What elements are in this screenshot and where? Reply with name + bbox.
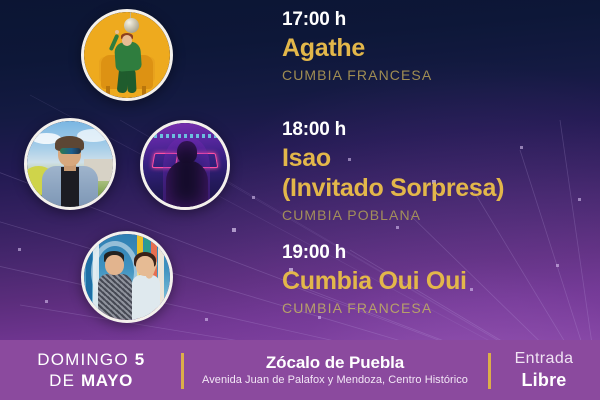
event-poster: 17:00 h Agathe CUMBIA FRANCESA 18:00 h I… bbox=[0, 0, 600, 400]
lineup-artist-1: Agathe bbox=[282, 33, 600, 63]
lineup-artist-name-3: Cumbia Oui Oui bbox=[282, 267, 467, 295]
lineup-item-2: 18:00 h Isao (Invitado Sorpresa) CUMBIA … bbox=[282, 118, 600, 225]
footer-venue-address: Avenida Juan de Palafox y Mendoza, Centr… bbox=[202, 373, 468, 388]
sunglasses-icon bbox=[60, 148, 82, 154]
artist-photo-cumbia-oui-oui bbox=[81, 231, 173, 323]
artist-photo-isao bbox=[24, 118, 116, 210]
lineup-genre-2: CUMBIA POBLANA bbox=[282, 205, 600, 225]
lineup-time-1: 17:00 h bbox=[282, 8, 600, 32]
surprise-guest-photo bbox=[143, 123, 227, 207]
lineup-artist-3: Cumbia Oui Oui bbox=[282, 266, 600, 296]
footer-price-section: Entrada Libre bbox=[488, 340, 600, 400]
agathe-photo bbox=[84, 12, 170, 98]
lineup-artist-note-2: (Invitado Sorpresa) bbox=[282, 173, 600, 203]
footer-date-weekday: DOMINGO bbox=[37, 350, 134, 369]
footer-date-month: MAYO bbox=[81, 371, 133, 390]
footer-bar: DOMINGO 5 DE MAYO Zócalo de Puebla Aveni… bbox=[0, 340, 600, 400]
lineup-list: 17:00 h Agathe CUMBIA FRANCESA 18:00 h I… bbox=[282, 0, 600, 340]
lineup-genre-3: CUMBIA FRANCESA bbox=[282, 298, 600, 318]
lineup-genre-1: CUMBIA FRANCESA bbox=[282, 65, 600, 85]
artist-photo-surprise-guest bbox=[140, 120, 230, 210]
footer-venue-section: Zócalo de Puebla Avenida Juan de Palafox… bbox=[182, 340, 488, 400]
lineup-item-1: 17:00 h Agathe CUMBIA FRANCESA bbox=[282, 8, 600, 85]
disco-ball-icon bbox=[124, 18, 139, 33]
lineup-artist-2: Isao (Invitado Sorpresa) bbox=[282, 143, 600, 203]
footer-date-de: DE bbox=[49, 371, 81, 390]
isao-photo bbox=[27, 121, 113, 207]
footer-date-section: DOMINGO 5 DE MAYO bbox=[0, 340, 182, 400]
artist-photo-agathe bbox=[81, 9, 173, 101]
lineup-time-2: 18:00 h bbox=[282, 118, 600, 142]
cumbia-oui-oui-photo bbox=[84, 234, 170, 320]
lineup-item-3: 19:00 h Cumbia Oui Oui CUMBIA FRANCESA bbox=[282, 241, 600, 318]
lineup-time-3: 19:00 h bbox=[282, 241, 600, 265]
footer-price-line-1: Entrada bbox=[515, 349, 574, 369]
lineup-artist-name-1: Agathe bbox=[282, 34, 365, 62]
footer-venue-title: Zócalo de Puebla bbox=[266, 352, 404, 373]
footer-date-day: 5 bbox=[135, 350, 145, 369]
footer-date-line-1: DOMINGO 5 bbox=[37, 349, 145, 370]
footer-price-line-2: Libre bbox=[521, 369, 566, 391]
lineup-artist-name-2: Isao bbox=[282, 143, 600, 173]
footer-date-line-2: DE MAYO bbox=[49, 370, 133, 391]
